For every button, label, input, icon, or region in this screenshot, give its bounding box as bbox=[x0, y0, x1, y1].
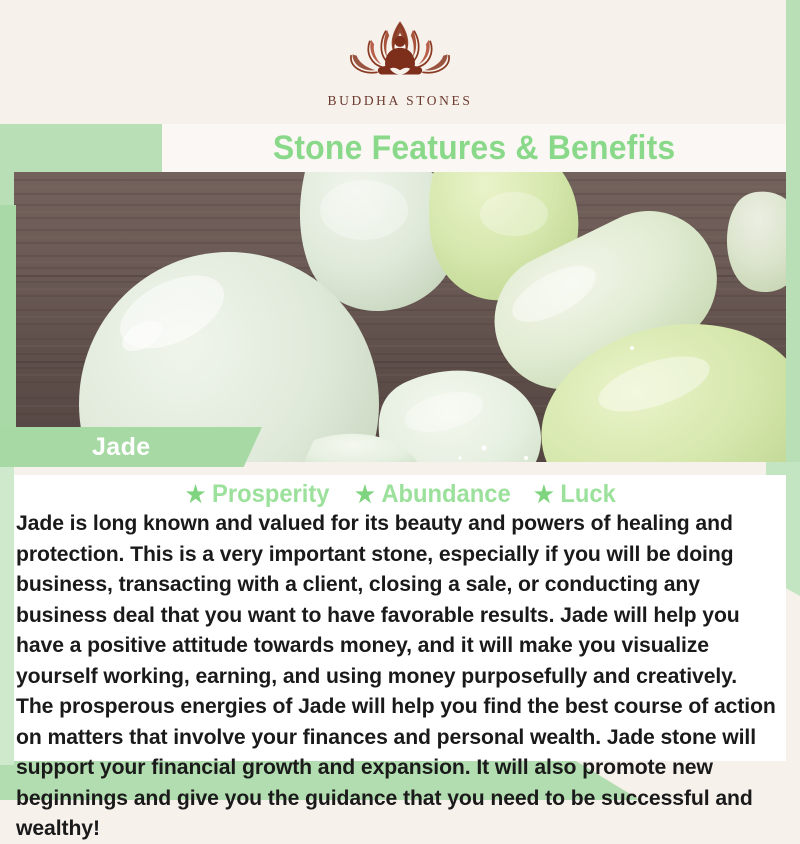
stone-photo bbox=[14, 172, 786, 462]
stone-description: Jade is long known and valued for its be… bbox=[16, 508, 776, 844]
left-green-edge bbox=[0, 455, 14, 765]
left-green-accent-bar bbox=[0, 205, 16, 457]
star-icon: ★ bbox=[186, 483, 206, 506]
benefit-item-luck: ★ Luck bbox=[534, 480, 616, 509]
benefits-row: ★ Prosperity ★ Abundance ★ Luck bbox=[14, 478, 786, 510]
stone-name-ribbon: Jade bbox=[0, 427, 262, 467]
right-green-accent-bar bbox=[786, 172, 800, 462]
stone-photo-illustration bbox=[14, 172, 786, 462]
lotus-meditation-icon bbox=[327, 14, 473, 86]
title-band: Stone Features & Benefits bbox=[162, 124, 786, 172]
benefit-label: Luck bbox=[560, 480, 615, 509]
star-icon: ★ bbox=[355, 483, 375, 506]
star-icon: ★ bbox=[534, 483, 554, 506]
infographic-card: BUDDHA STONES Stone Features & Benefits bbox=[0, 0, 800, 800]
page-title: Stone Features & Benefits bbox=[273, 131, 676, 165]
benefit-item-abundance: ★ Abundance bbox=[355, 480, 511, 509]
benefit-item-prosperity: ★ Prosperity bbox=[186, 480, 330, 509]
brand-name: BUDDHA STONES bbox=[328, 93, 473, 109]
brand-logo: BUDDHA STONES bbox=[0, 14, 800, 109]
benefit-label: Prosperity bbox=[213, 480, 330, 509]
benefit-label: Abundance bbox=[381, 480, 510, 509]
stone-name-label: Jade bbox=[92, 427, 151, 467]
